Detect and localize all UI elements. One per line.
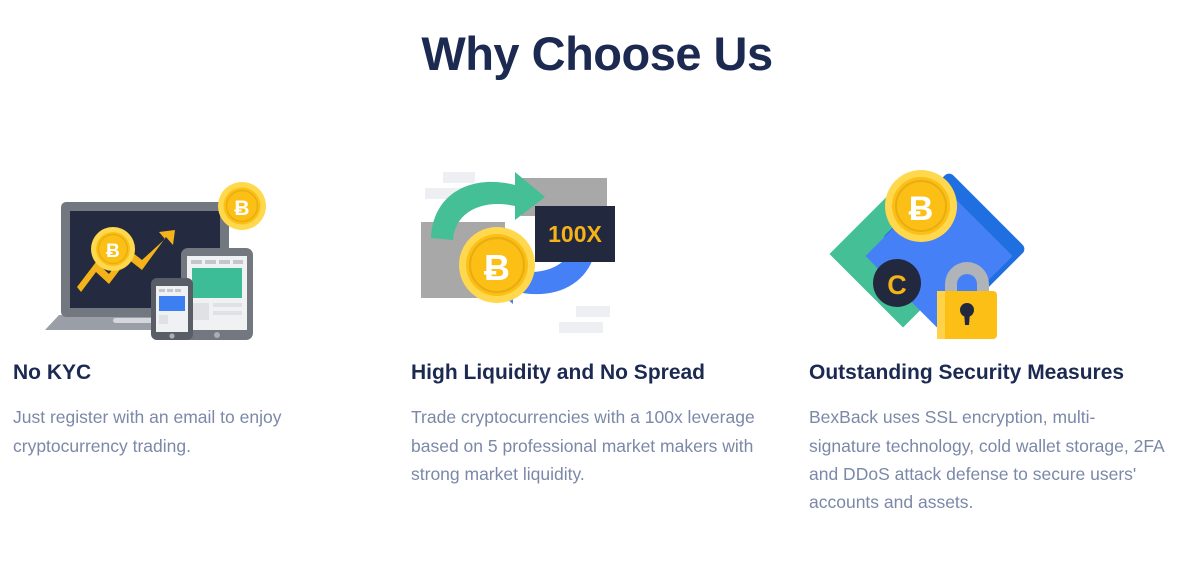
phone-icon [151,278,193,340]
bitcoin-coin-icon: Ƀ [218,182,266,230]
svg-text:Ƀ: Ƀ [234,197,249,220]
card-body-security: BexBack uses SSL encryption, multi-signa… [809,403,1164,516]
svg-text:Ƀ: Ƀ [106,241,120,262]
high-liquidity-illustration: 100X Ƀ [411,160,766,360]
feature-card-high-liquidity: 100X Ƀ High Liquidity and No Spread Trad… [398,160,796,488]
feature-card-security: Ƀ C Outstanding Security Measures BexBac [796,160,1194,517]
bitcoin-coin-icon: Ƀ [885,170,957,242]
page-title: Why Choose Us [0,30,1194,77]
bitcoin-coin-icon: Ƀ [459,227,535,303]
card-title-high-liquidity: High Liquidity and No Spread [411,360,766,385]
coin-mark-icon: C [873,259,921,307]
no-kyc-illustration: Ƀ Ƀ [13,160,368,360]
feature-card-no-kyc: Ƀ Ƀ No KYC Just register with an email t… [0,160,398,460]
card-title-security: Outstanding Security Measures [809,360,1164,385]
feature-columns: Ƀ Ƀ No KYC Just register with an email t… [0,160,1194,517]
card-body-high-liquidity: Trade cryptocurrencies with a 100x lever… [411,403,766,488]
svg-text:Ƀ: Ƀ [909,190,934,228]
bitcoin-coin-icon: Ƀ [91,227,135,271]
svg-text:Ƀ: Ƀ [484,247,510,288]
leverage-badge-label: 100X [548,221,602,247]
coin-mark-label: C [887,270,907,300]
security-illustration: Ƀ C [809,160,1164,360]
leverage-badge: 100X [535,206,615,262]
card-body-no-kyc: Just register with an email to enjoy cry… [13,403,368,460]
card-title-no-kyc: No KYC [13,360,368,385]
